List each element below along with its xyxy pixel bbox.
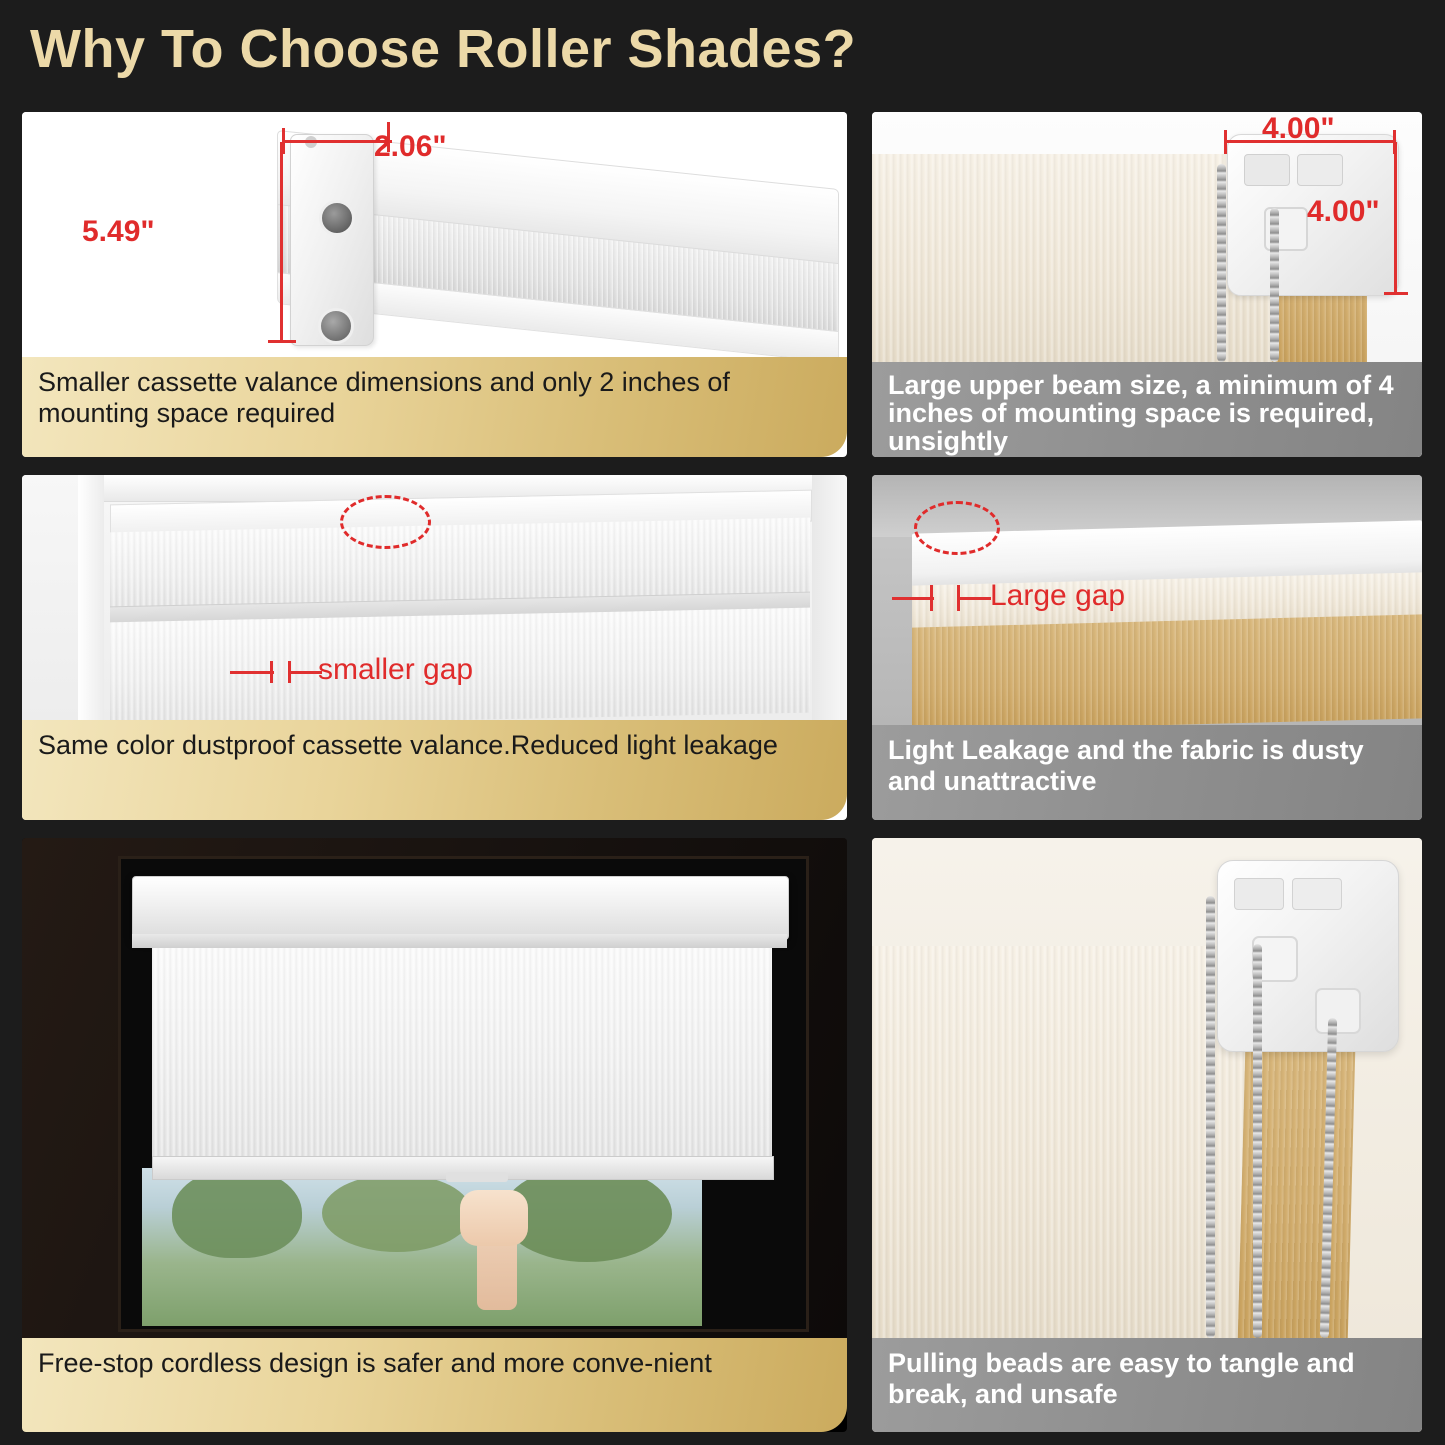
beam-depth-tick-bottom — [1384, 292, 1408, 295]
bead-chain — [1206, 896, 1215, 1338]
beam-depth-line — [1394, 142, 1397, 294]
infographic-page: Why To Choose Roller Shades? 2.06" — [0, 0, 1445, 1445]
cassette-valance-photo: 2.06" 5.49" — [22, 112, 847, 357]
gap-arrow-right — [288, 671, 322, 674]
bead-chain — [1270, 208, 1279, 362]
cordless-design-photo — [22, 838, 847, 1338]
card-caption: Same color dustproof cassette valance.Re… — [22, 720, 847, 820]
card-pulling-beads: Pulling beads are easy to tangle and bre… — [872, 838, 1422, 1432]
beam-width-tick-left — [1224, 130, 1227, 154]
card-cordless-design: Free-stop cordless design is safer and m… — [22, 838, 847, 1432]
card-caption: Smaller cassette valance dimensions and … — [22, 357, 847, 457]
light-leakage-photo: Large gap — [872, 475, 1422, 725]
height-dimension-line — [280, 142, 283, 342]
beam-depth-label: 4.00" — [1307, 195, 1380, 229]
gap-callout-label: Large gap — [990, 579, 1125, 613]
width-dimension-label: 2.06" — [374, 130, 447, 164]
card-cassette-valance-dimensions: 2.06" 5.49" Smaller cassette valance dim… — [22, 112, 847, 457]
card-caption: Free-stop cordless design is safer and m… — [22, 1338, 847, 1432]
card-light-leakage: Large gap Light Leakage and the fabric i… — [872, 475, 1422, 820]
gap-arrow-right — [957, 597, 991, 600]
gap-tick-left — [270, 661, 273, 683]
card-large-upper-beam: 4.00" 4.00" Large upper beam size, a min… — [872, 112, 1422, 457]
height-dimension-tick-bottom — [268, 340, 296, 343]
gap-arrow-left — [892, 597, 934, 600]
card-caption: Light Leakage and the fabric is dusty an… — [872, 725, 1422, 820]
beam-width-label: 4.00" — [1262, 112, 1335, 146]
height-dimension-label: 5.49" — [82, 215, 155, 249]
bead-chain — [1253, 944, 1262, 1338]
pulling-beads-photo — [872, 838, 1422, 1338]
gap-callout-label: smaller gap — [318, 653, 473, 687]
card-caption: Large upper beam size, a minimum of 4 in… — [872, 362, 1422, 457]
page-title: Why To Choose Roller Shades? — [30, 18, 856, 80]
card-grid: 2.06" 5.49" Smaller cassette valance dim… — [22, 112, 1422, 1432]
large-upper-beam-photo: 4.00" 4.00" — [872, 112, 1422, 362]
card-dustproof-cassette-valance: smaller gap Same color dustproof cassett… — [22, 475, 847, 820]
gap-highlight-ellipse — [914, 501, 1000, 555]
card-caption: Pulling beads are easy to tangle and bre… — [872, 1338, 1422, 1432]
dustproof-valance-photo: smaller gap — [22, 475, 847, 720]
gap-highlight-ellipse — [340, 495, 431, 549]
bead-chain — [1217, 164, 1226, 362]
gap-tick-left — [930, 585, 933, 611]
gap-arrow-left — [230, 671, 274, 674]
